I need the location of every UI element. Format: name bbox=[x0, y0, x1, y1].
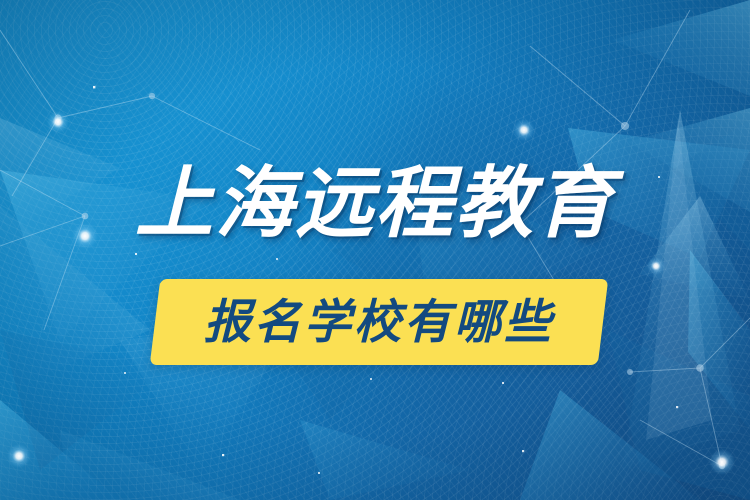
page-title: 上海远程教育 bbox=[0, 157, 750, 249]
arc-texture-overlay-secondary bbox=[0, 0, 750, 500]
vignette-overlay bbox=[0, 0, 750, 500]
background-gradient bbox=[0, 0, 750, 500]
diagonal-line-texture bbox=[0, 0, 750, 500]
low-poly-facets bbox=[0, 0, 750, 500]
glow-dots-overlay bbox=[0, 0, 750, 500]
subtitle: 报名学校有哪些 bbox=[155, 279, 603, 365]
network-nodes-overlay bbox=[0, 0, 750, 500]
arc-texture-overlay bbox=[0, 0, 750, 500]
promo-banner: 上海远程教育 报名学校有哪些 bbox=[0, 0, 750, 500]
subtitle-banner-shape bbox=[150, 279, 609, 365]
